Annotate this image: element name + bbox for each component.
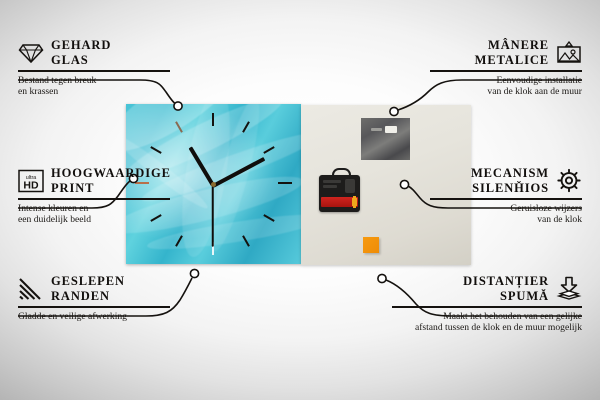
callout-title-line2: RANDEN (51, 289, 125, 304)
callout-title-line1: DISTANȚIER (463, 274, 549, 289)
diamond-icon (18, 42, 44, 64)
connector-dot-geslepen (190, 269, 198, 277)
callout-title-line2: METALICE (475, 53, 549, 68)
callout-rule (392, 306, 582, 308)
gear-icon (556, 168, 582, 193)
callout-rule (430, 198, 582, 200)
callout-geslepen-randen: GESLEPEN RANDEN Gladde en veilige afwerk… (18, 274, 170, 322)
connector-dot-mecanism (400, 180, 408, 188)
callout-distantier-spuma: DISTANȚIER SPUMĂ Maakt het behouden van … (392, 274, 582, 334)
callout-desc-line1: Gladde en veilige afwerking (18, 311, 170, 323)
callout-desc-line2: en krassen (18, 86, 170, 98)
callout-rule (430, 70, 582, 72)
callout-title-line1: MÂNERE (475, 38, 549, 53)
spacer-download-icon (556, 276, 582, 301)
callout-title-line2: SILENȞIOS (471, 181, 549, 196)
connector-dot-gehard-glas (174, 102, 182, 110)
callout-desc-line1: Geruisloze wijzers (430, 203, 582, 215)
callout-desc-line1: Eenvoudige installatie (430, 75, 582, 87)
callout-title-line1: MECANISM (471, 166, 549, 181)
callout-desc-line2: een duidelijk beeld (18, 214, 170, 226)
callout-rule (18, 70, 170, 72)
callout-desc-line1: Intense kleuren en (18, 203, 170, 215)
callout-title-line1: HOOGWAARDIGE (51, 166, 171, 181)
connector-dot-manere (390, 107, 398, 115)
callout-desc-line2: van de klok (430, 214, 582, 226)
callout-rule (18, 306, 170, 308)
callout-title-line1: GESLEPEN (51, 274, 125, 289)
infographic-canvas: GEHARD GLAS Bestand tegen breuk en krass… (0, 0, 600, 400)
callout-gehard-glas: GEHARD GLAS Bestand tegen breuk en krass… (18, 38, 170, 98)
callout-title-line1: GEHARD (51, 38, 111, 53)
callout-title-line2: SPUMĂ (463, 289, 549, 304)
callout-desc-line2: van de klok aan de muur (430, 86, 582, 98)
callout-manere-metalice: MÂNERE METALICE Eenvoudige installatie v… (430, 38, 582, 98)
callout-desc-line1: Maakt het behouden van een gelijke (392, 311, 582, 323)
callout-title-line2: PRINT (51, 181, 171, 196)
callout-hoogwaardige-print: ultra HD HOOGWAARDIGE PRINT Intense kleu… (18, 166, 170, 226)
picture-frame-icon (556, 41, 582, 65)
ultra-hd-icon-text-bottom: HD (23, 179, 39, 191)
callout-desc-line1: Bestand tegen breuk (18, 75, 170, 87)
callout-title-line2: GLAS (51, 53, 111, 68)
connector-dot-distantier (378, 274, 386, 282)
ultra-hd-icon: ultra HD (18, 169, 44, 193)
callout-mecanism-silentios: MECANISM SILENȞIOS Geruisloze wijzers va… (430, 166, 582, 226)
callout-desc-line2: afstand tussen de klok en de muur mogeli… (392, 322, 582, 334)
callout-rule (18, 198, 170, 200)
bevel-edges-icon (18, 277, 44, 301)
